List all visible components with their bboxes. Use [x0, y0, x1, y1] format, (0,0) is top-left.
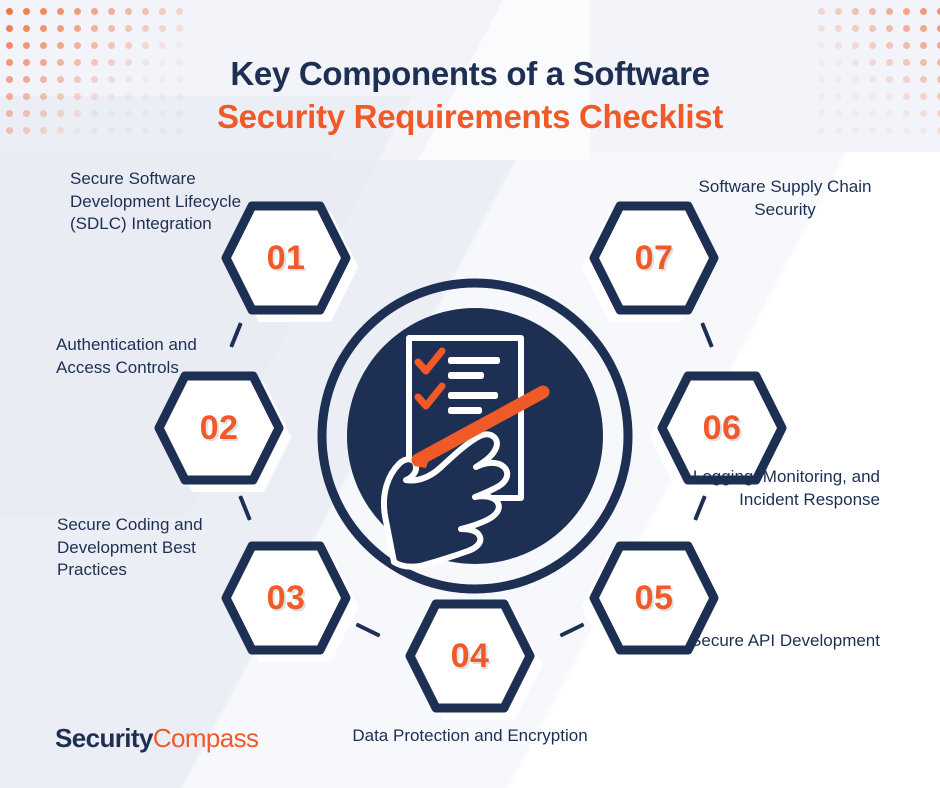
step-label-05: Secure API Development [690, 630, 880, 653]
step-label-07: Software Supply Chain Security [690, 176, 880, 221]
title-line-2: Security Requirements Checklist [0, 95, 940, 138]
checklist-clipboard-hand-pen-icon [317, 278, 633, 594]
step-label-01: Secure Software Development Lifecycle (S… [70, 168, 260, 236]
step-hexagon-02[interactable]: 02 [155, 372, 283, 484]
step-label-02: Authentication and Access Controls [56, 334, 226, 379]
infographic-canvas: Key Components of a Software Security Re… [0, 0, 940, 788]
step-label-03: Secure Coding and Development Best Pract… [57, 514, 242, 582]
step-label-06: Logging, Monitoring, and Incident Respon… [690, 466, 880, 511]
step-label-04: Data Protection and Encryption [290, 725, 650, 748]
brand-name-secondary: Compass [153, 723, 259, 753]
brand-name-primary: Security [55, 723, 153, 753]
title-line-1: Key Components of a Software [0, 52, 940, 95]
page-title: Key Components of a Software Security Re… [0, 52, 940, 138]
step-hexagon-04[interactable]: 04 [406, 600, 534, 712]
brand-logo[interactable]: SecurityCompass [55, 723, 258, 754]
center-illustration [317, 278, 633, 594]
